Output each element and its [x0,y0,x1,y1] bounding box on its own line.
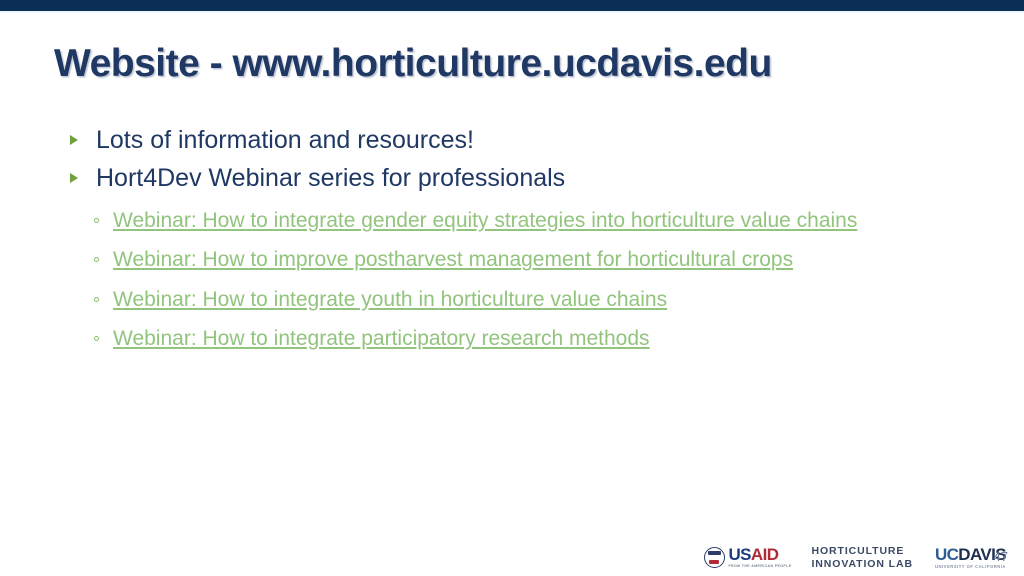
slide-footer: USAID FROM THE AMERICAN PEOPLE HORTICULT… [0,528,1024,576]
list-item: Lots of information and resources! [0,124,1024,158]
list-item: Webinar: How to improve postharvest mana… [0,246,1024,273]
list-item: Webinar: How to integrate youth in horti… [0,286,1024,313]
list-item-label: Lots of information and resources! [96,126,474,154]
webinar-link-gender-equity[interactable]: Webinar: How to integrate gender equity … [113,209,857,232]
webinar-link-youth[interactable]: Webinar: How to integrate youth in horti… [113,288,667,311]
horticulture-innovation-lab-logo: HORTICULTURE INNOVATION LAB [811,545,912,570]
top-accent-band [0,0,1024,11]
circle-bullet-icon [94,257,99,262]
usaid-tagline: FROM THE AMERICAN PEOPLE [728,565,791,569]
usaid-seal-icon [704,547,725,568]
logo-row: USAID FROM THE AMERICAN PEOPLE HORTICULT… [704,545,1006,570]
page-number: 47 [994,549,1008,564]
page-title: Website - www.horticulture.ucdavis.edu [54,42,974,87]
usaid-wordmark: USAID FROM THE AMERICAN PEOPLE [728,546,791,569]
list-item: Webinar: How to integrate gender equity … [0,207,1024,234]
list-item-label: Hort4Dev Webinar series for professional… [96,164,565,192]
circle-bullet-icon [94,297,99,302]
list-item: Webinar: How to integrate participatory … [0,325,1024,352]
top-accent-hairline [0,11,1024,13]
usaid-logo: USAID FROM THE AMERICAN PEOPLE [704,546,791,569]
bullet-list: Lots of information and resources! Hort4… [0,124,1024,352]
ucdavis-subtitle: UNIVERSITY OF CALIFORNIA [935,565,1006,569]
ucdavis-name-uc: UC [935,545,958,564]
triangle-bullet-icon [70,135,78,145]
triangle-bullet-icon [70,173,78,183]
list-item: Hort4Dev Webinar series for professional… [0,162,1024,196]
webinar-link-postharvest[interactable]: Webinar: How to improve postharvest mana… [113,248,793,271]
hil-line-2: INNOVATION LAB [811,558,912,570]
usaid-name-aid: AID [751,545,778,564]
circle-bullet-icon [94,336,99,341]
circle-bullet-icon [94,218,99,223]
hil-line-1: HORTICULTURE [811,545,912,557]
webinar-link-participatory-research[interactable]: Webinar: How to integrate participatory … [113,327,650,350]
slide-canvas: Website - www.horticulture.ucdavis.edu L… [0,0,1024,576]
usaid-name: USAID [728,546,791,563]
usaid-name-us: US [728,545,750,564]
